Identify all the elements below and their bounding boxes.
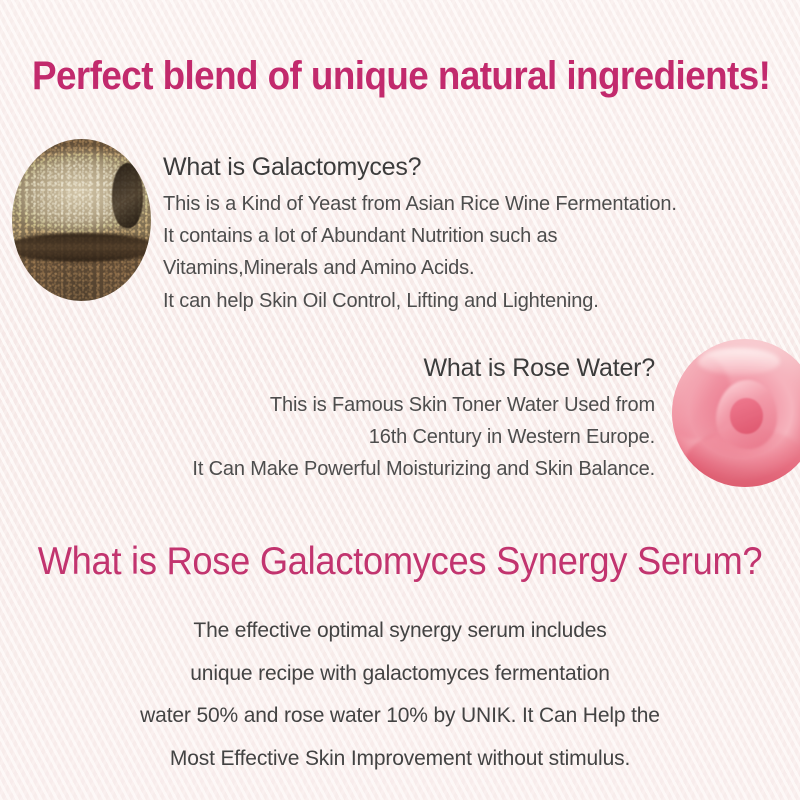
rosewater-text-block: What is Rose Water? This is Famous Skin … bbox=[180, 351, 655, 486]
rosewater-heading: What is Rose Water? bbox=[180, 351, 655, 386]
serum-text-block: The effective optimal synergy serum incl… bbox=[100, 610, 700, 781]
rose-highlight bbox=[698, 348, 780, 375]
serum-line-3: water 50% and rose water 10% by UNIK. It… bbox=[100, 695, 700, 738]
galactomyces-line-2: It contains a lot of Abundant Nutrition … bbox=[163, 220, 683, 252]
galactomyces-heading: What is Galactomyces? bbox=[163, 150, 683, 185]
galactomyces-line-1: This is a Kind of Yeast from Asian Rice … bbox=[163, 188, 683, 220]
bowl-rim-shadow bbox=[12, 233, 151, 262]
rosewater-line-3: It Can Make Powerful Moisturizing and Sk… bbox=[180, 453, 655, 485]
galactomyces-line-3: Vitamins,Minerals and Amino Acids. bbox=[163, 252, 683, 284]
rose-bud-center bbox=[730, 398, 762, 434]
serum-line-1: The effective optimal synergy serum incl… bbox=[100, 610, 700, 653]
bowl-spoon-shape bbox=[112, 163, 143, 228]
serum-headline: What is Rose Galactomyces Synergy Serum? bbox=[28, 541, 772, 584]
serum-line-4: Most Effective Skin Improvement without … bbox=[100, 738, 700, 781]
main-headline: Perfect blend of unique natural ingredie… bbox=[32, 54, 768, 98]
galactomyces-line-4: It can help Skin Oil Control, Lifting an… bbox=[163, 285, 683, 317]
galactomyces-text-block: What is Galactomyces? This is a Kind of … bbox=[163, 150, 683, 317]
rosewater-line-2: 16th Century in Western Europe. bbox=[180, 421, 655, 453]
serum-line-2: unique recipe with galactomyces fermenta… bbox=[100, 653, 700, 696]
product-info-graphic: Perfect blend of unique natural ingredie… bbox=[0, 0, 800, 800]
rosewater-line-1: This is Famous Skin Toner Water Used fro… bbox=[180, 389, 655, 421]
rose-flower-photo bbox=[672, 339, 800, 487]
galactomyces-rice-grains-photo bbox=[12, 139, 151, 301]
